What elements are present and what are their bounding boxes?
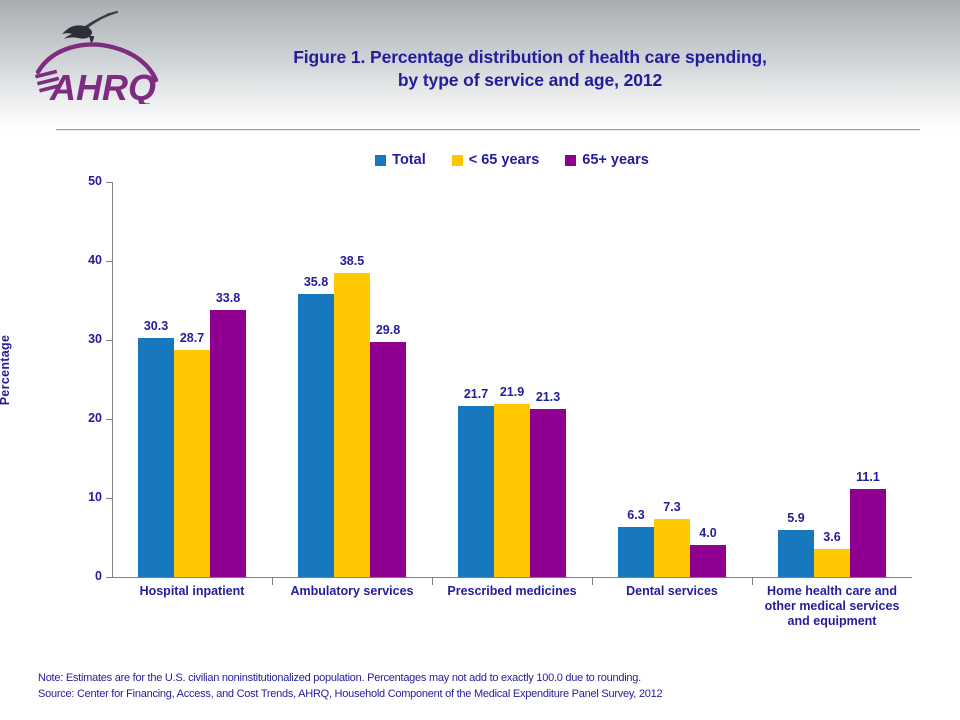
bar-over-65-group-1[interactable] [210, 310, 246, 577]
bar-value-label-over-65-group-5: 11.1 [841, 470, 895, 484]
category-label-1: Hospital inpatient [112, 584, 272, 599]
category-label-5: Home health care andother medical servic… [752, 584, 912, 629]
y-tick-mark-0 [106, 577, 113, 578]
y-axis-line [112, 182, 113, 578]
category-label-line: and equipment [752, 614, 912, 629]
y-tick-label-0: 0 [62, 569, 102, 583]
category-label-4: Dental services [592, 584, 752, 599]
bar-value-label-under-65-group-4: 7.3 [645, 500, 699, 514]
y-tick-label-50: 50 [62, 174, 102, 188]
category-label-line: Home health care and [752, 584, 912, 599]
bar-total-group-2[interactable] [298, 294, 334, 577]
bar-under-65-group-2[interactable] [334, 273, 370, 577]
category-label-line: Prescribed medicines [432, 584, 592, 599]
category-label-line: Ambulatory services [272, 584, 432, 599]
category-label-line: Hospital inpatient [112, 584, 272, 599]
bar-total-group-4[interactable] [618, 527, 654, 577]
bar-under-65-group-1[interactable] [174, 350, 210, 577]
bar-value-label-over-65-group-3: 21.3 [521, 390, 575, 404]
y-axis-title: Percentage [0, 310, 12, 430]
bar-total-group-1[interactable] [138, 338, 174, 577]
category-label-line: Dental services [592, 584, 752, 599]
footnote-source: Source: Center for Financing, Access, an… [38, 686, 938, 702]
footnote-note: Note: Estimates are for the U.S. civilia… [38, 670, 938, 686]
bar-value-label-total-group-5: 5.9 [769, 511, 823, 525]
y-tick-mark-20 [106, 419, 113, 420]
x-axis-line [112, 577, 912, 578]
category-label-2: Ambulatory services [272, 584, 432, 599]
category-label-line: other medical services [752, 599, 912, 614]
bar-over-65-group-2[interactable] [370, 342, 406, 577]
bar-value-label-over-65-group-4: 4.0 [681, 526, 735, 540]
y-tick-label-30: 30 [62, 332, 102, 346]
bar-under-65-group-3[interactable] [494, 404, 530, 577]
y-tick-mark-50 [106, 182, 113, 183]
y-tick-mark-30 [106, 340, 113, 341]
bar-value-label-under-65-group-2: 38.5 [325, 254, 379, 268]
bar-over-65-group-5[interactable] [850, 489, 886, 577]
y-tick-label-40: 40 [62, 253, 102, 267]
y-tick-mark-40 [106, 261, 113, 262]
bar-total-group-3[interactable] [458, 406, 494, 577]
footnotes: Note: Estimates are for the U.S. civilia… [38, 670, 938, 702]
bar-value-label-over-65-group-1: 33.8 [201, 291, 255, 305]
category-label-3: Prescribed medicines [432, 584, 592, 599]
y-tick-label-20: 20 [62, 411, 102, 425]
y-tick-mark-10 [106, 498, 113, 499]
chart-plot-area: Percentage 01020304050 30.328.733.835.83… [0, 0, 960, 720]
bar-value-label-over-65-group-2: 29.8 [361, 323, 415, 337]
y-tick-label-10: 10 [62, 490, 102, 504]
bar-over-65-group-4[interactable] [690, 545, 726, 577]
bar-over-65-group-3[interactable] [530, 409, 566, 577]
bar-under-65-group-5[interactable] [814, 549, 850, 577]
